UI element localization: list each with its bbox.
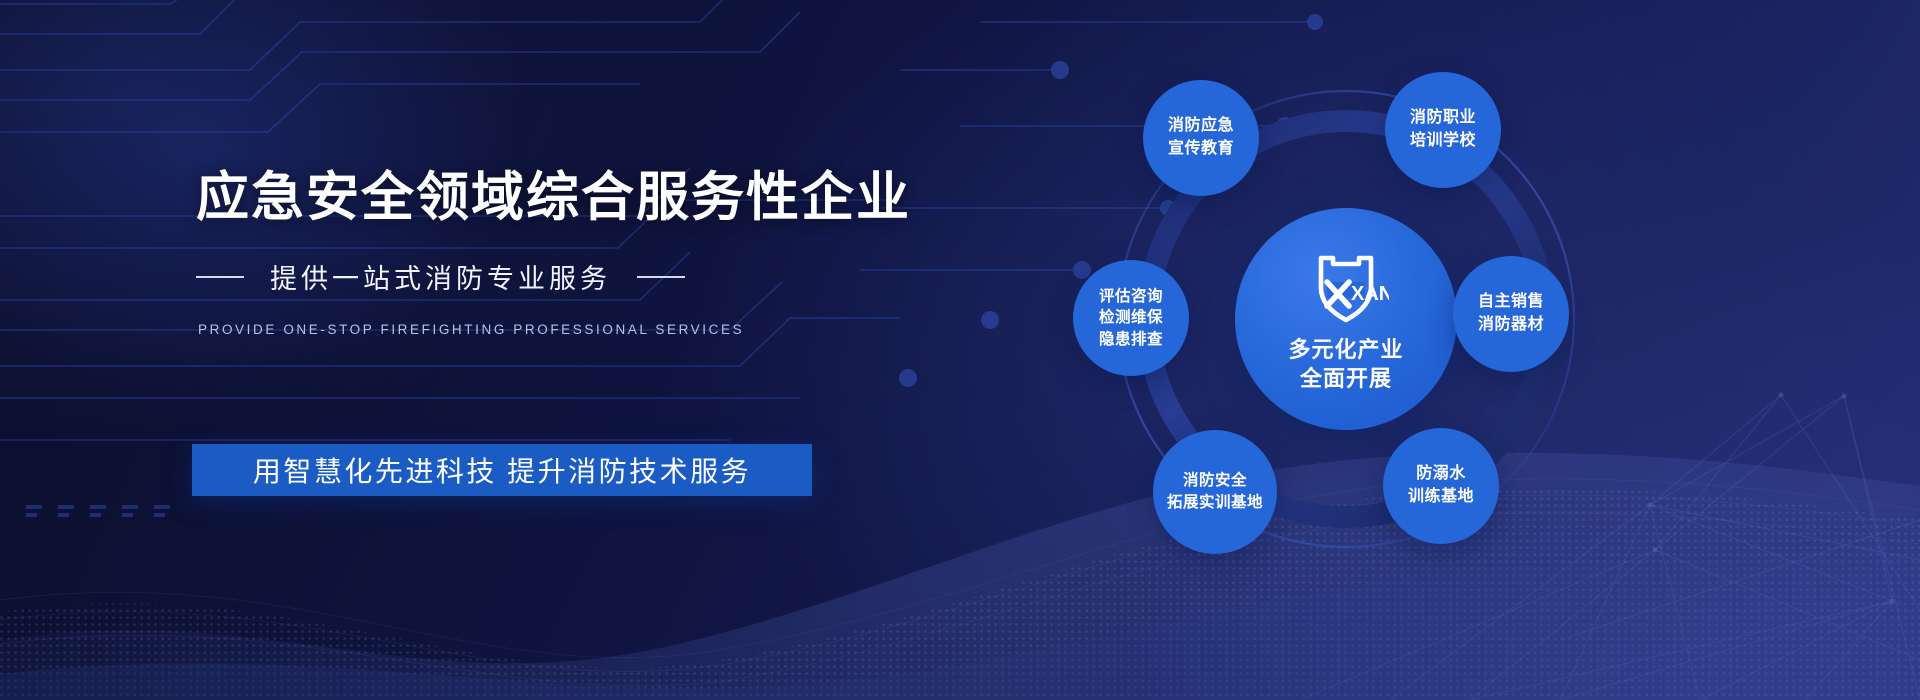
diagram-node-fire-emergency-education[interactable]: 消防应急 宣传教育	[1143, 80, 1259, 196]
node-line-1: 消防应急	[1168, 115, 1234, 138]
node-line-1: 评估咨询	[1099, 286, 1163, 307]
node-line-1: 消防安全	[1183, 470, 1247, 492]
diagram-node-assessment-inspection[interactable]: 评估咨询 检测维保 隐患排查	[1073, 260, 1189, 376]
hero-banner: 应急安全领域综合服务性企业 提供一站式消防专业服务 PROVIDE ONE-ST…	[0, 0, 1920, 700]
diagram-node-equipment-sales[interactable]: 自主销售 消防器材	[1453, 256, 1569, 372]
node-line-1: 防溺水	[1416, 463, 1466, 486]
diagram-node-anti-drowning[interactable]: 防溺水 训练基地	[1383, 428, 1499, 544]
english-tagline: PROVIDE ONE-STOP FIREFIGHTING PROFESSION…	[198, 322, 956, 337]
center-labels: 多元化产业 全面开展	[1288, 336, 1403, 393]
rule-right-icon	[637, 276, 685, 278]
node-line-1: 消防职业	[1410, 107, 1476, 130]
node-line-2: 检测维保	[1099, 307, 1163, 328]
node-line-2: 培训学校	[1410, 130, 1476, 153]
rule-left-icon	[196, 276, 244, 278]
node-line-3: 隐患排查	[1099, 329, 1163, 350]
services-diagram: XAN 多元化产业 全面开展 消防应急 宣传教育 消防职业 培训学校 评估咨询 …	[1115, 60, 1775, 660]
subtitle-row: 提供一站式消防专业服务	[196, 257, 956, 296]
page-title: 应急安全领域综合服务性企业	[196, 168, 956, 227]
cta-banner[interactable]: 用智慧化先进科技 提升消防技术服务	[192, 444, 812, 496]
diagram-center-node[interactable]: XAN 多元化产业 全面开展	[1235, 208, 1457, 430]
center-line-1: 多元化产业	[1288, 336, 1403, 365]
diagram-node-training-base[interactable]: 消防安全 拓展实训基地	[1153, 430, 1277, 554]
node-line-1: 自主销售	[1478, 291, 1544, 314]
hero-copy: 应急安全领域综合服务性企业 提供一站式消防专业服务 PROVIDE ONE-ST…	[196, 168, 956, 337]
cta-label: 用智慧化先进科技 提升消防技术服务	[253, 450, 751, 490]
node-line-2: 消防器材	[1478, 314, 1544, 337]
shield-icon: XAN	[1303, 244, 1389, 330]
center-line-2: 全面开展	[1288, 365, 1403, 394]
diagram-node-vocational-school[interactable]: 消防职业 培训学校	[1385, 72, 1501, 188]
subtitle: 提供一站式消防专业服务	[270, 257, 611, 296]
logo-text: XAN	[1351, 283, 1389, 305]
node-line-2: 拓展实训基地	[1167, 492, 1263, 514]
node-line-2: 训练基地	[1408, 486, 1474, 509]
node-line-2: 宣传教育	[1168, 138, 1234, 161]
